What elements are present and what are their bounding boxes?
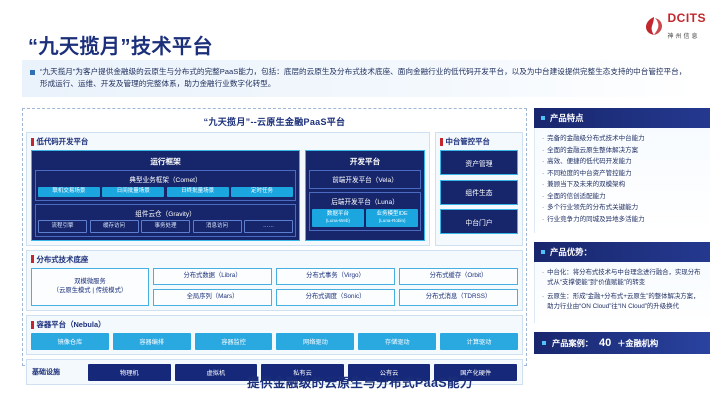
foundation-column-1: 分布式数据（Libra） 全局序列（Mars）	[153, 268, 272, 307]
feature-item: ·行业竞争力的同城及异地多活能力	[542, 215, 703, 226]
advantages-title: 产品优势：	[550, 246, 592, 258]
panel-midoffice-title: 中台管控平台	[446, 136, 490, 147]
features-header: 产品特点	[534, 108, 710, 128]
block-runtime-framework[interactable]: 运行框架 典型业务框架（Comet） 联机交易场景 日间批量场景 日终批量场景 …	[31, 150, 300, 241]
chip-business-model-ide-sub: (Luna-Robin)	[366, 218, 418, 224]
container-compute-driver[interactable]: 计算驱动	[440, 333, 518, 350]
dot-icon: ·	[542, 134, 544, 145]
accent-bar-icon	[440, 138, 443, 146]
midoffice-item-component-ecology[interactable]: 组件生态	[440, 180, 518, 205]
case-unit: ＋金融机构	[617, 337, 658, 349]
panel-lowcode-header: 低代码开发平台	[31, 136, 425, 147]
container-monitoring[interactable]: 容器监控	[195, 333, 273, 350]
group-frontend-dev: 前端开发平台（Vela）	[309, 170, 421, 189]
group-gravity: 组件云仓（Gravity） 流程引擎 缓存访问 事务处理 消息访问 ……	[35, 204, 296, 237]
foundation-distributed-transaction[interactable]: 分布式事务（Virgo）	[276, 268, 395, 286]
foundation-column-2: 分布式事务（Virgo） 分布式调度（Sonic）	[276, 268, 395, 307]
advantage-item: ·云原生：形成“金融+分布式+云原生”的整体解决方案，助力行业由“ON Clou…	[542, 292, 703, 312]
chip-eod-batch[interactable]: 日终批量场景	[167, 187, 229, 197]
dot-icon: ·	[542, 146, 544, 157]
chip-message-access[interactable]: 消息访问	[193, 220, 242, 232]
dot-icon: ·	[542, 192, 544, 203]
group-comet: 典型业务框架（Comet） 联机交易场景 日间批量场景 日终批量场景 定时任务	[35, 170, 296, 201]
chip-online-transaction[interactable]: 联机交易场景	[38, 187, 100, 197]
container-storage-driver[interactable]: 存储驱动	[358, 333, 436, 350]
dcits-logo-icon	[644, 16, 664, 36]
feature-item-label: 不同粒度的中台资产管控能力	[547, 169, 632, 180]
block-dev-platform[interactable]: 开发平台 前端开发平台（Vela） 后端开发平台（Luna） 数据平台 (Lun…	[305, 150, 425, 241]
dual-mode-line2: （云原生模式 | 传统模式）	[53, 287, 127, 294]
intro-text: “九天揽月”为客户提供金融级的云原生与分布式的完整PaaS能力，包括：底层的云原…	[40, 66, 690, 90]
bullet-square-icon	[541, 116, 545, 120]
features-title: 产品特点	[550, 112, 584, 124]
foundation-distributed-scheduling[interactable]: 分布式调度（Sonic）	[276, 289, 395, 307]
container-orchestration[interactable]: 容器编排	[113, 333, 191, 350]
feature-item: ·不同粒度的中台资产管控能力	[542, 169, 703, 180]
card-product-cases: 产品案例： 40 ＋金融机构	[534, 332, 710, 354]
foundation-distributed-message[interactable]: 分布式消息（TDRSS）	[399, 289, 518, 307]
feature-item-label: 完备的金融级分布式技术中台能力	[547, 134, 645, 145]
brand-name-en: DCITS	[668, 11, 707, 25]
chip-business-model-ide-label: 业务模型IDE	[377, 211, 408, 217]
feature-item: ·兼顾当下及未来的双模架构	[542, 180, 703, 191]
panel-midoffice-control: 中台管控平台 资产管理 组件生态 中台门户	[435, 132, 523, 246]
runtime-title: 运行框架	[35, 154, 296, 170]
bullet-square-icon	[30, 70, 35, 75]
feature-item: ·完备的金融级分布式技术中台能力	[542, 134, 703, 145]
midoffice-item-portal[interactable]: 中台门户	[440, 209, 518, 234]
slide-root: DCITS 神州信息 “九天揽月”技术平台 “九天揽月”为客户提供金融级的云原生…	[0, 0, 720, 405]
chip-data-platform-label: 数据平台	[327, 211, 349, 217]
chip-data-platform-sub: (Luna-Web)	[312, 218, 364, 224]
advantages-header: 产品优势：	[534, 242, 710, 262]
foundation-distributed-cache[interactable]: 分布式缓存（Orbit）	[399, 268, 518, 286]
accent-bar-icon	[31, 255, 34, 263]
dev-platform-title: 开发平台	[309, 154, 421, 170]
feature-item-label: 高效、便捷的低代码开发能力	[547, 157, 632, 168]
bullet-square-icon	[542, 341, 546, 345]
brand-text: DCITS 神州信息	[668, 10, 707, 42]
group-comet-title: 典型业务框架（Comet）	[38, 173, 293, 187]
panel-container-title: 容器平台（Nebula）	[37, 319, 106, 330]
dot-icon: ·	[542, 157, 544, 168]
feature-item-label: 兼顾当下及未来的双模架构	[547, 180, 625, 191]
dot-icon: ·	[542, 292, 544, 312]
foundation-distributed-data[interactable]: 分布式数据（Libra）	[153, 268, 272, 286]
accent-bar-icon	[31, 321, 34, 329]
foundation-global-sequence[interactable]: 全局序列（Mars）	[153, 289, 272, 307]
case-label: 产品案例：	[552, 337, 593, 349]
dot-icon: ·	[542, 203, 544, 214]
backend-dev-title: 后端开发平台（Luna）	[312, 195, 418, 209]
panel-distributed-foundation: 分布式技术底座 双模微服务 （云原生模式 | 传统模式） 分布式数据（Libra…	[26, 250, 523, 312]
feature-item: ·全面的金融云原生整体解决方案	[542, 146, 703, 157]
feature-item-label: 全面的信创适配能力	[547, 192, 606, 203]
feature-item-label: 行业竞争力的同城及异地多活能力	[547, 215, 645, 226]
chip-process-engine[interactable]: 流程引擎	[38, 220, 87, 232]
feature-item: ·多个行业领先的分布式关键能力	[542, 203, 703, 214]
panel-midoffice-header: 中台管控平台	[440, 136, 518, 147]
chip-transaction-processing[interactable]: 事务处理	[141, 220, 190, 232]
frontend-dev-title: 前端开发平台（Vela）	[312, 173, 418, 185]
case-number: 40	[599, 337, 611, 349]
advantage-item: ·中台化：将分布式技术与中台理念进行融合，实现分布式从“支撑使能”到“价值赋能”…	[542, 268, 703, 288]
advantage-item-label: 云原生：形成“金融+分布式+云原生”的整体解决方案，助力行业由“ON Cloud…	[547, 292, 703, 312]
panel-foundation-header: 分布式技术底座	[31, 254, 518, 265]
brand-name-cn: 神州信息	[668, 34, 700, 40]
bullet-square-icon	[541, 250, 545, 254]
panel-foundation-title: 分布式技术底座	[37, 254, 89, 265]
feature-item: ·高效、便捷的低代码开发能力	[542, 157, 703, 168]
midoffice-item-asset-management[interactable]: 资产管理	[440, 150, 518, 175]
advantage-item-label: 中台化：将分布式技术与中台理念进行融合，实现分布式从“支撑使能”到“价值赋能”的…	[547, 268, 703, 288]
dot-icon: ·	[542, 180, 544, 191]
advantages-body: ·中台化：将分布式技术与中台理念进行融合，实现分布式从“支撑使能”到“价值赋能”…	[534, 262, 710, 323]
panel-lowcode-platform: 低代码开发平台 运行框架 典型业务框架（Comet） 联机交易场景 日间批量场景…	[26, 132, 430, 246]
accent-bar-icon	[31, 138, 34, 146]
feature-item-label: 全面的金融云原生整体解决方案	[547, 146, 638, 157]
feature-item-label: 多个行业领先的分布式关键能力	[547, 203, 638, 214]
foundation-dual-mode-microservice[interactable]: 双模微服务 （云原生模式 | 传统模式）	[31, 268, 149, 307]
group-gravity-title: 组件云仓（Gravity）	[38, 207, 293, 221]
brand-logo: DCITS 神州信息	[644, 10, 707, 42]
chip-scheduled-task[interactable]: 定时任务	[231, 187, 293, 197]
feature-item: ·全面的信创适配能力	[542, 192, 703, 203]
chip-business-model-ide[interactable]: 业务模型IDE (Luna-Robin)	[366, 209, 418, 228]
dot-icon: ·	[542, 268, 544, 288]
card-product-features: 产品特点 ·完备的金融级分布式技术中台能力 ·全面的金融云原生整体解决方案 ·高…	[534, 108, 710, 233]
dot-icon: ·	[542, 169, 544, 180]
diagram-title: “九天揽月”--云原生金融PaaS平台	[26, 112, 523, 132]
chip-cache-access[interactable]: 缓存访问	[90, 220, 139, 232]
panel-lowcode-title: 低代码开发平台	[37, 136, 89, 147]
panel-container-platform: 容器平台（Nebula） 镜像仓库 容器编排 容器监控 网络驱动 存储驱动 计算…	[26, 315, 523, 355]
chip-more[interactable]: ……	[244, 220, 293, 232]
dual-mode-line1: 双模微服务	[74, 278, 105, 285]
dot-icon: ·	[542, 215, 544, 226]
features-body: ·完备的金融级分布式技术中台能力 ·全面的金融云原生整体解决方案 ·高效、便捷的…	[534, 128, 710, 233]
panel-container-header: 容器平台（Nebula）	[31, 319, 518, 330]
intro-panel: “九天揽月”为客户提供金融级的云原生与分布式的完整PaaS能力，包括：底层的云原…	[22, 60, 698, 97]
chip-data-platform[interactable]: 数据平台 (Luna-Web)	[312, 209, 364, 228]
side-column: 产品特点 ·完备的金融级分布式技术中台能力 ·全面的金融云原生整体解决方案 ·高…	[534, 108, 710, 354]
footer-tagline: 提供金融级的云原生与分布式PaaS能力	[0, 372, 720, 391]
card-product-advantages: 产品优势： ·中台化：将分布式技术与中台理念进行融合，实现分布式从“支撑使能”到…	[534, 242, 710, 323]
container-network-driver[interactable]: 网络驱动	[276, 333, 354, 350]
container-image-repository[interactable]: 镜像仓库	[31, 333, 109, 350]
page-title: “九天揽月”技术平台	[28, 30, 213, 59]
architecture-diagram: “九天揽月”--云原生金融PaaS平台 低代码开发平台 运行框架 典型业务框架（…	[22, 108, 527, 366]
group-backend-dev: 后端开发平台（Luna） 数据平台 (Luna-Web) 业务模型IDE (Lu…	[309, 192, 421, 231]
chip-intraday-batch[interactable]: 日间批量场景	[102, 187, 164, 197]
foundation-column-3: 分布式缓存（Orbit） 分布式消息（TDRSS）	[399, 268, 518, 307]
